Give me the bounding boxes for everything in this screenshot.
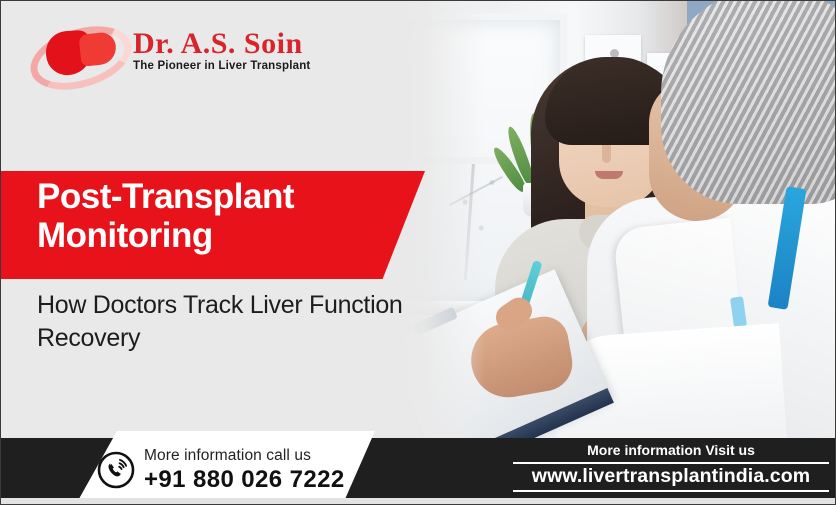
consultation-photo (399, 1, 836, 498)
brand-name: Dr. A.S. Soin (133, 27, 303, 61)
website-url[interactable]: www.livertransplantindia.com (513, 462, 829, 492)
liver-orbit-logo-icon (29, 17, 133, 93)
headline-line-2: Monitoring (37, 216, 407, 255)
phone-ring-icon (97, 451, 135, 489)
phone-number[interactable]: +91 880 026 7222 (144, 466, 345, 494)
promo-banner: Dr. A.S. Soin The Pioneer in Liver Trans… (0, 0, 836, 505)
page-title: Post-Transplant Monitoring (37, 177, 407, 255)
headline-line-1: Post-Transplant (37, 177, 407, 216)
bottom-strip (1, 498, 836, 505)
call-label: More information call us (144, 447, 311, 465)
visit-label: More information Visit us (521, 442, 821, 458)
page-subtitle: How Doctors Track Liver Function Recover… (37, 289, 407, 354)
subheadline-line-1: How Doctors Track Liver (37, 291, 302, 319)
brand-header: Dr. A.S. Soin The Pioneer in Liver Trans… (1, 1, 401, 111)
doctor-grey-hair (661, 1, 836, 204)
photo-edge-fade (399, 1, 485, 498)
brand-tagline: The Pioneer in Liver Transplant (133, 60, 310, 72)
liver-icon (46, 31, 114, 75)
patient-mouth (595, 171, 623, 179)
